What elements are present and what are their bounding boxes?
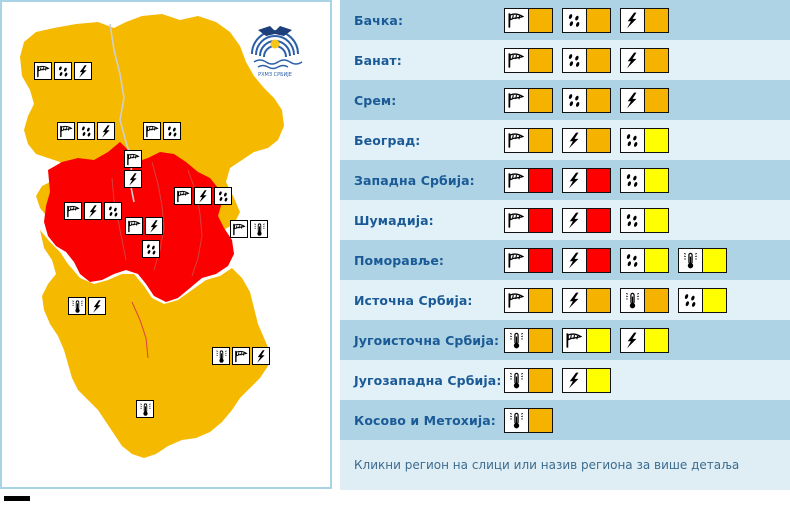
map-cluster-srem[interactable] [57,122,115,140]
lightning-icon [84,202,102,220]
warning-icon-group [504,8,669,33]
raindrops-icon [104,202,122,220]
raindrops-icon [679,289,703,312]
warning-row[interactable]: Косово и Метохија: [340,400,790,440]
thermometer-icon [212,347,230,365]
windsock-icon [505,129,529,152]
warning-row[interactable]: Југозападна Србија: [340,360,790,400]
warning-icon-group [504,368,611,393]
table-footer: Кликни регион на слици или назив региона… [340,440,790,490]
warning-icon-group [504,408,553,433]
raindrops-icon [214,187,232,205]
windsock-icon [505,49,529,72]
lightning-icon [621,49,645,72]
windsock-icon [124,150,142,168]
lightning-icon [621,9,645,32]
warning-row[interactable]: Југоисточна Србија: [340,320,790,360]
warning-icon-group [504,88,669,113]
region-label[interactable]: Срем: [354,93,504,108]
warning-icon-group [504,48,669,73]
warning-icon-group [504,328,669,353]
lightning-icon [97,122,115,140]
logo-caption: РХМЗ СРБИЈЕ [258,72,292,78]
lightning-icon [74,62,92,80]
lightning-icon [124,170,142,188]
region-label[interactable]: Југозападна Србија: [354,373,504,388]
windsock-icon [125,217,143,235]
severity-swatch-red [529,249,552,272]
lightning-icon [88,297,106,315]
warning-badge[interactable] [504,368,553,393]
warning-badge[interactable] [562,88,611,113]
lightning-icon [563,169,587,192]
severity-swatch-orange [587,129,610,152]
warning-row[interactable]: Бачка: [340,0,790,40]
warning-badge[interactable] [678,248,727,273]
thermometer-icon [505,329,529,352]
raindrops-icon [563,9,587,32]
thermometer-icon [136,400,154,418]
map-cluster-zapadna-srbija[interactable] [64,202,122,220]
region-label[interactable]: Београд: [354,133,504,148]
warning-row[interactable]: Поморавље: [340,240,790,280]
warning-row[interactable]: Шумадија: [340,200,790,240]
warning-badge[interactable] [562,168,611,193]
warning-row[interactable]: Источна Србија: [340,280,790,320]
warning-badge[interactable] [620,248,669,273]
severity-swatch-red [529,209,552,232]
warning-badge[interactable] [620,328,669,353]
severity-swatch-yellow [703,289,726,312]
warning-badge[interactable] [562,8,611,33]
windsock-icon [505,249,529,272]
map-cluster-sumadija-2[interactable] [142,240,160,258]
raindrops-icon [163,122,181,140]
severity-swatch-orange [587,49,610,72]
severity-swatch-yellow [645,329,668,352]
lightning-icon [621,329,645,352]
severity-swatch-yellow [587,369,610,392]
warning-icon-group [504,128,669,153]
thermometer-icon [505,369,529,392]
warning-row[interactable]: Београд: [340,120,790,160]
severity-swatch-orange [529,129,552,152]
severity-swatch-yellow [703,249,726,272]
warning-badge[interactable] [620,128,669,153]
windsock-icon [505,209,529,232]
map-panel[interactable]: РХМЗ СРБИЈЕ [0,0,332,489]
windsock-icon [563,329,587,352]
region-label[interactable]: Бачка: [354,13,504,28]
raindrops-icon [621,129,645,152]
severity-swatch-orange [529,409,552,432]
windsock-icon [505,169,529,192]
severity-swatch-red [587,169,610,192]
warning-badge[interactable] [504,248,553,273]
warning-badge[interactable] [504,48,553,73]
rhmz-logo: РХМЗ СРБИЈЕ [240,10,310,80]
region-label[interactable]: Поморавље: [354,253,504,268]
lightning-icon [563,129,587,152]
raindrops-icon [621,169,645,192]
raindrops-icon [563,89,587,112]
thermometer-icon [679,249,703,272]
warning-icon-group [504,248,727,273]
severity-swatch-yellow [587,329,610,352]
bottom-black-bar [4,496,30,501]
raindrops-icon [54,62,72,80]
windsock-icon [34,62,52,80]
map-cluster-jugozapadna[interactable] [68,297,106,315]
severity-swatch-red [529,169,552,192]
severity-swatch-orange [529,369,552,392]
severity-swatch-yellow [645,249,668,272]
warning-badge[interactable] [504,8,553,33]
warning-badge[interactable] [562,128,611,153]
lightning-icon [563,249,587,272]
lightning-icon [252,347,270,365]
map-cluster-backa[interactable] [34,62,92,80]
windsock-icon [64,202,82,220]
severity-swatch-orange [645,89,668,112]
warning-badge[interactable] [562,368,611,393]
windsock-icon [230,220,248,238]
raindrops-icon [142,240,160,258]
lightning-icon [145,217,163,235]
region-label[interactable]: Југоисточна Србија: [354,333,504,348]
windsock-icon [505,9,529,32]
map-cluster-kosovo[interactable] [136,400,154,418]
warning-badge[interactable] [562,48,611,73]
warning-badge[interactable] [504,128,553,153]
region-label[interactable]: Западна Србија: [354,173,504,188]
warning-badge[interactable] [504,288,553,313]
warning-icon-group [504,168,669,193]
severity-swatch-orange [587,289,610,312]
windsock-icon [57,122,75,140]
logo-sun [271,40,280,49]
lightning-icon [563,209,587,232]
severity-swatch-orange [529,89,552,112]
map-cluster-istocna-srbija[interactable] [230,220,268,238]
thermometer-icon [68,297,86,315]
warning-row[interactable]: Срем: [340,80,790,120]
severity-swatch-orange [587,89,610,112]
lightning-icon [563,289,587,312]
severity-swatch-orange [645,289,668,312]
severity-swatch-orange [645,49,668,72]
raindrops-icon [621,249,645,272]
warning-badge[interactable] [504,328,553,353]
warning-rows: Бачка:Банат:Срем:Београд:Западна Србија:… [340,0,790,440]
warning-icon-group [504,288,727,313]
map-cluster-jugoistocna[interactable] [212,347,270,365]
warning-badge[interactable] [620,88,669,113]
meteoalarm-page: РХМЗ СРБИЈЕ Бачка:Банат:Срем:Београд:Зап… [0,0,790,505]
warning-row[interactable]: Западна Србија: [340,160,790,200]
region-label[interactable]: Источна Србија: [354,293,504,308]
warning-badge[interactable] [562,328,611,353]
region-label[interactable]: Шумадија: [354,213,504,228]
windsock-icon [505,289,529,312]
severity-swatch-orange [529,289,552,312]
severity-swatch-orange [587,9,610,32]
warning-badge[interactable] [504,168,553,193]
warning-badge[interactable] [504,88,553,113]
map-cluster-beograd-2[interactable] [124,170,142,188]
severity-swatch-red [587,249,610,272]
severity-swatch-yellow [645,169,668,192]
thermometer-icon [250,220,268,238]
severity-swatch-orange [645,9,668,32]
map-cluster-beograd[interactable] [124,150,142,168]
map-cluster-sumadija[interactable] [125,217,163,235]
windsock-icon [505,89,529,112]
warning-badge[interactable] [620,208,669,233]
severity-swatch-orange [529,49,552,72]
warning-badge[interactable] [620,168,669,193]
raindrops-icon [563,49,587,72]
severity-swatch-orange [529,329,552,352]
warning-badge[interactable] [562,248,611,273]
severity-swatch-yellow [645,209,668,232]
region-label[interactable]: Косово и Метохија: [354,413,504,428]
warning-badge[interactable] [620,288,669,313]
lightning-icon [563,369,587,392]
severity-swatch-red [587,209,610,232]
warning-badge[interactable] [504,408,553,433]
raindrops-icon [77,122,95,140]
warning-badge[interactable] [620,8,669,33]
lightning-icon [621,89,645,112]
warning-badge[interactable] [620,48,669,73]
severity-swatch-orange [529,9,552,32]
lightning-icon [194,187,212,205]
warning-badge[interactable] [562,288,611,313]
warning-badge[interactable] [562,208,611,233]
thermometer-icon [621,289,645,312]
region-label[interactable]: Банат: [354,53,504,68]
windsock-icon [174,187,192,205]
region-warning-table: Бачка:Банат:Срем:Београд:Западна Србија:… [340,0,790,489]
warning-icon-group [504,208,669,233]
warning-row[interactable]: Банат: [340,40,790,80]
raindrops-icon [621,209,645,232]
windsock-icon [143,122,161,140]
map-cluster-banat[interactable] [143,122,181,140]
map-cluster-pomoravlje[interactable] [174,187,232,205]
windsock-icon [232,347,250,365]
footer-note: Кликни регион на слици или назив региона… [354,458,739,472]
thermometer-icon [505,409,529,432]
warning-badge[interactable] [678,288,727,313]
warning-badge[interactable] [504,208,553,233]
severity-swatch-yellow [645,129,668,152]
